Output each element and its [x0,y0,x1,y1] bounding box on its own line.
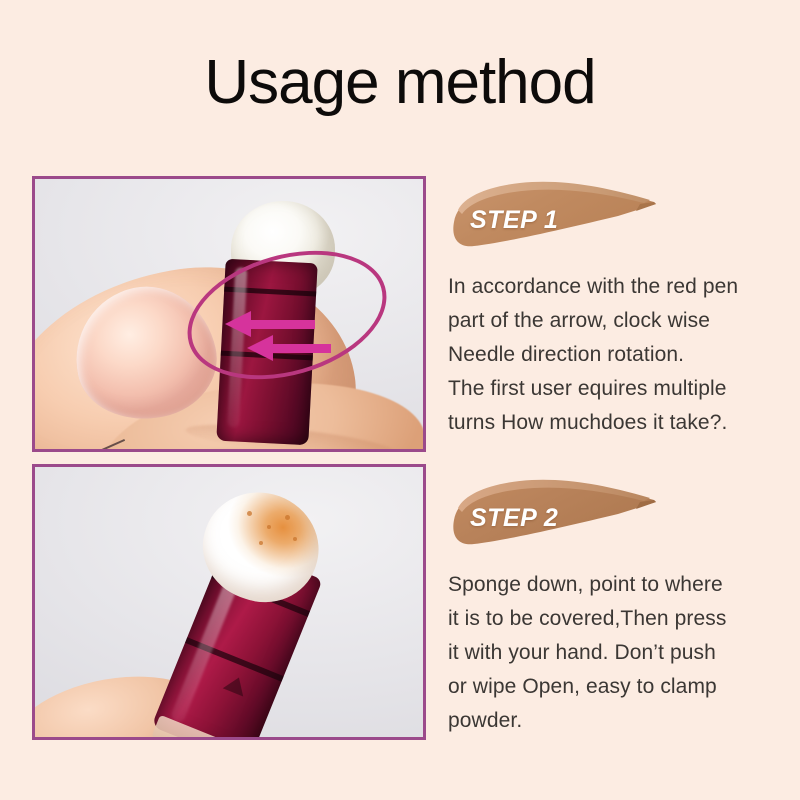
step-2-line: it with your hand. Don’t push [448,636,788,670]
rotation-arrow-icon [225,311,251,337]
usage-method-page: Usage method [0,0,800,800]
step-2-text: Sponge down, point to where it is to be … [448,568,788,738]
step-2-swatch: STEP 2 [448,474,666,558]
step-1-swatch: STEP 1 [448,176,666,260]
step-1-block: STEP 1 In accordance with the red pen pa… [448,176,788,440]
page-title: Usage method [0,48,800,118]
powder-speck [247,511,252,516]
powder-speck [259,541,263,545]
step-1-line: Needle direction rotation. [448,338,788,372]
powder-speck [267,525,271,529]
step-2-label: STEP 2 [470,504,558,533]
step-1-line: part of the arrow, clock wise [448,304,788,338]
rotation-arrow-icon [247,335,273,361]
photo-rotate-applicator [32,176,426,452]
step-2-block: STEP 2 Sponge down, point to where it is… [448,474,788,738]
step-1-label: STEP 1 [470,206,558,235]
step-2-line: or wipe Open, easy to clamp [448,670,788,704]
powder-speck [293,537,297,541]
step-2-line: Sponge down, point to where [448,568,788,602]
rotation-arrow-tail [249,320,315,329]
step-2-line: powder. [448,704,788,738]
step-2-line: it is to be covered,Then press [448,602,788,636]
rotation-arrow-tail [271,344,331,353]
step-1-line: The first user equires multiple [448,372,788,406]
step-1-line: turns How muchdoes it take?. [448,406,788,440]
powder-speck [285,515,290,520]
step-1-text: In accordance with the red pen part of t… [448,270,788,440]
step-1-line: In accordance with the red pen [448,270,788,304]
photo-powder-loaded-applicator [32,464,426,740]
